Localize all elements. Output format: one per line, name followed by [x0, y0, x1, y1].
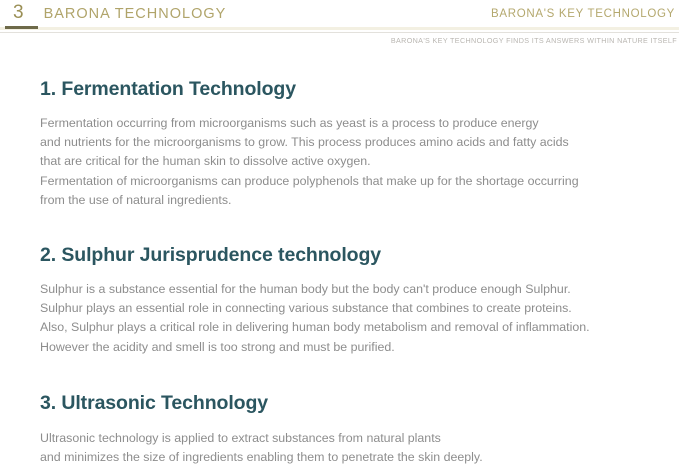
body-line: that are critical for the human skin to …	[40, 152, 650, 171]
body-line: Fermentation of microorganisms can produ…	[40, 172, 650, 191]
body-line: Fermentation occurring from microorganis…	[40, 114, 650, 133]
body-line: However the acidity and smell is too str…	[40, 338, 650, 357]
document-page: 3 BARONA TECHNOLOGY BARONA'S KEY TECHNOL…	[0, 0, 679, 443]
body-line: and nutrients for the microorganisms to …	[40, 133, 650, 152]
section-heading: 2. Sulphur Jurisprudence technology	[40, 242, 650, 268]
body-line: Sulphur plays an essential role in conne…	[40, 299, 650, 318]
section-sulphur-jurisprudence-technology: 2. Sulphur Jurisprudence technology Sulp…	[40, 210, 650, 357]
header-rule-light	[0, 27, 679, 30]
chapter-title: BARONA TECHNOLOGY	[44, 3, 227, 25]
section-body: Fermentation occurring from microorganis…	[40, 102, 650, 210]
section-body: Sulphur is a substance essential for the…	[40, 268, 650, 357]
section-heading: 3. Ultrasonic Technology	[40, 390, 650, 416]
header-rule-accent	[5, 26, 38, 29]
header-rule-thin	[0, 32, 679, 33]
body-line: Ultrasonic technology is applied to extr…	[40, 429, 650, 448]
header-left-group: 3 BARONA TECHNOLOGY	[13, 2, 226, 25]
header-tagline: BARONA'S KEY TECHNOLOGY FINDS ITS ANSWER…	[391, 36, 677, 46]
section-ultrasonic-technology: 3. Ultrasonic Technology Ultrasonic tech…	[40, 357, 650, 467]
section-fermentation-technology: 1. Fermentation Technology Fermentation …	[40, 70, 650, 210]
body-line: Sulphur is a substance essential for the…	[40, 280, 650, 299]
page-header: 3 BARONA TECHNOLOGY BARONA'S KEY TECHNOL…	[0, 0, 679, 28]
body-line: from the use of natural ingredients.	[40, 191, 650, 210]
body-line: and minimizes the size of ingredients en…	[40, 448, 650, 467]
header-right-label: BARONA'S KEY TECHNOLOGY	[491, 6, 675, 22]
section-heading: 1. Fermentation Technology	[40, 76, 650, 102]
document-content: 1. Fermentation Technology Fermentation …	[40, 70, 650, 467]
section-body: Ultrasonic technology is applied to extr…	[40, 416, 650, 467]
chapter-number: 3	[13, 2, 24, 24]
body-line: Also, Sulphur plays a critical role in d…	[40, 318, 650, 337]
